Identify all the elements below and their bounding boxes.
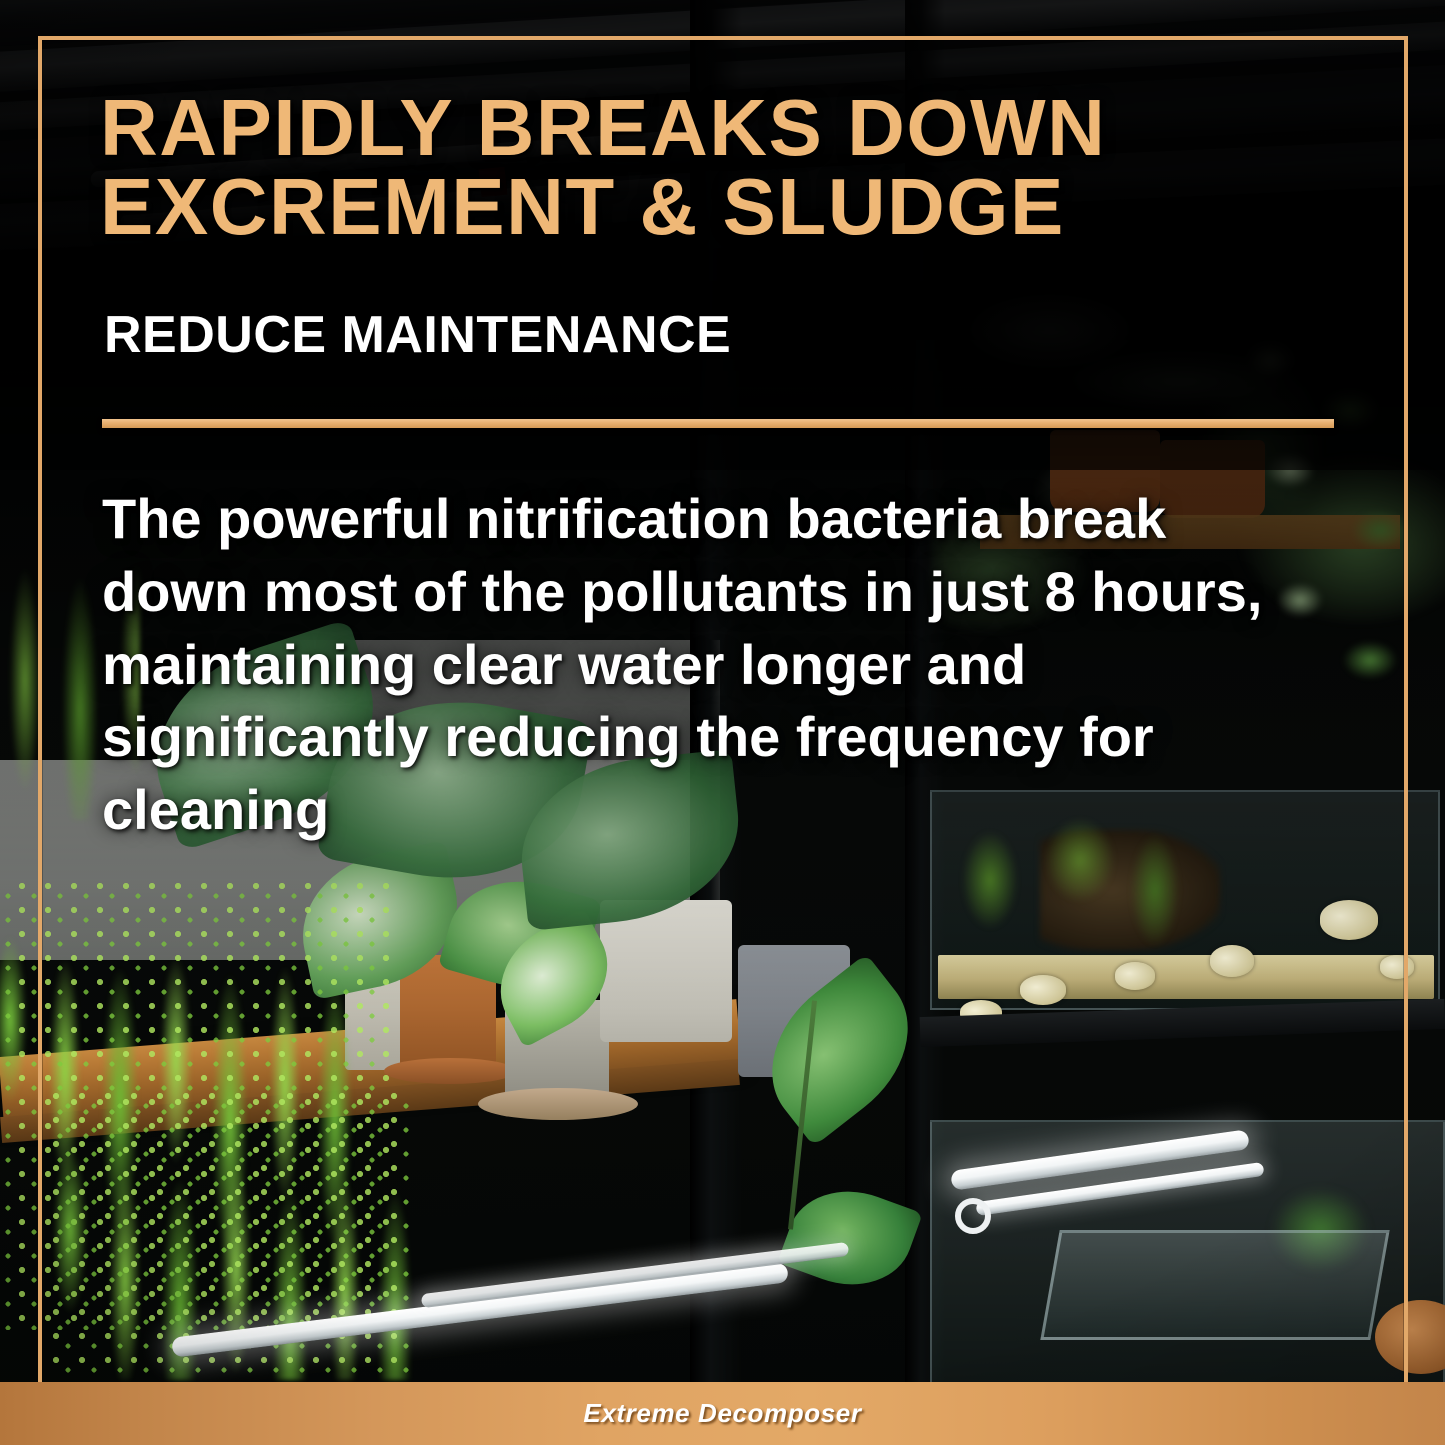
body-paragraph: The powerful nitrification bacteria brea… — [102, 483, 1317, 847]
headline-line-2: EXCREMENT & SLUDGE — [100, 167, 1300, 246]
page-title: RAPIDLY BREAKS DOWN EXCREMENT & SLUDGE — [100, 88, 1300, 246]
product-name-label: Extreme Decomposer — [583, 1398, 861, 1429]
footer-bar: Extreme Decomposer — [0, 1382, 1445, 1445]
gold-divider-rule — [102, 419, 1334, 428]
subheadline: REDUCE MAINTENANCE — [104, 305, 731, 365]
headline-line-1: RAPIDLY BREAKS DOWN — [100, 88, 1300, 167]
product-feature-poster: RAPIDLY BREAKS DOWN EXCREMENT & SLUDGE R… — [0, 0, 1445, 1445]
